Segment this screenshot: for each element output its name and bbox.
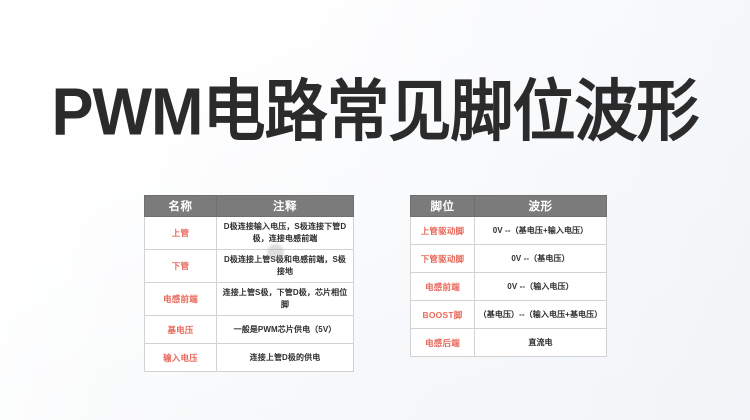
- table-row: 下管 D极连接上管S极和电感前端，S极接地: [145, 250, 354, 283]
- cell-note: 一般是PWM芯片供电（5V）: [217, 316, 354, 344]
- cell-waveform: 直流电: [475, 329, 607, 357]
- page-title-container: PWM电路常见脚位波形: [0, 74, 750, 150]
- cell-note: 连接上管S极，下管D极，芯片相位脚: [217, 283, 354, 316]
- cell-pin: 电感后端: [411, 329, 475, 357]
- cell-waveform: 0V --（基电压）: [475, 245, 607, 273]
- column-header-note: 注释: [217, 196, 354, 217]
- column-header-waveform: 波形: [475, 196, 607, 217]
- table-header-row: 名称 注释: [145, 196, 354, 217]
- table-row: 电感前端 0V --（输入电压）: [411, 273, 607, 301]
- table-header-row: 脚位 波形: [411, 196, 607, 217]
- cell-name: 电感前端: [145, 283, 217, 316]
- cell-name: 下管: [145, 250, 217, 283]
- cell-pin: 电感前端: [411, 273, 475, 301]
- table-row: 上管驱动脚 0V --（基电压+输入电压）: [411, 217, 607, 245]
- cell-pin: 上管驱动脚: [411, 217, 475, 245]
- table-row: 电感后端 直流电: [411, 329, 607, 357]
- table-row: 电感前端 连接上管S极，下管D极，芯片相位脚: [145, 283, 354, 316]
- cell-name: 输入电压: [145, 344, 217, 372]
- cell-waveform: 0V --（基电压+输入电压）: [475, 217, 607, 245]
- cell-pin: 下管驱动脚: [411, 245, 475, 273]
- cell-pin: BOOST脚: [411, 301, 475, 329]
- cell-waveform: （基电压）--（输入电压+基电压）: [475, 301, 607, 329]
- column-header-pin: 脚位: [411, 196, 475, 217]
- cell-name: 基电压: [145, 316, 217, 344]
- tables-container: 名称 注释 上管 D极连接输入电压，S极连接下管D极，连接电感前端 下管 D极连…: [0, 195, 750, 367]
- column-header-name: 名称: [145, 196, 217, 217]
- table-row: BOOST脚 （基电压）--（输入电压+基电压）: [411, 301, 607, 329]
- table-row: 输入电压 连接上管D极的供电: [145, 344, 354, 372]
- page-title: PWM电路常见脚位波形: [52, 72, 699, 153]
- cell-note: D极连接输入电压，S极连接下管D极，连接电感前端: [217, 217, 354, 250]
- table-row: 下管驱动脚 0V --（基电压）: [411, 245, 607, 273]
- table-row: 基电压 一般是PWM芯片供电（5V）: [145, 316, 354, 344]
- cell-name: 上管: [145, 217, 217, 250]
- slide-root: PWM电路常见脚位波形 名称 注释 上管 D极连接输入电压，S极连接下管D极，连…: [0, 0, 750, 420]
- table-row: 上管 D极连接输入电压，S极连接下管D极，连接电感前端: [145, 217, 354, 250]
- cell-waveform: 0V --（输入电压）: [475, 273, 607, 301]
- cell-note: 连接上管D极的供电: [217, 344, 354, 372]
- pin-description-table: 名称 注释 上管 D极连接输入电压，S极连接下管D极，连接电感前端 下管 D极连…: [144, 195, 354, 372]
- pin-waveform-table: 脚位 波形 上管驱动脚 0V --（基电压+输入电压） 下管驱动脚 0V --（…: [410, 195, 607, 357]
- cell-note: D极连接上管S极和电感前端，S极接地: [217, 250, 354, 283]
